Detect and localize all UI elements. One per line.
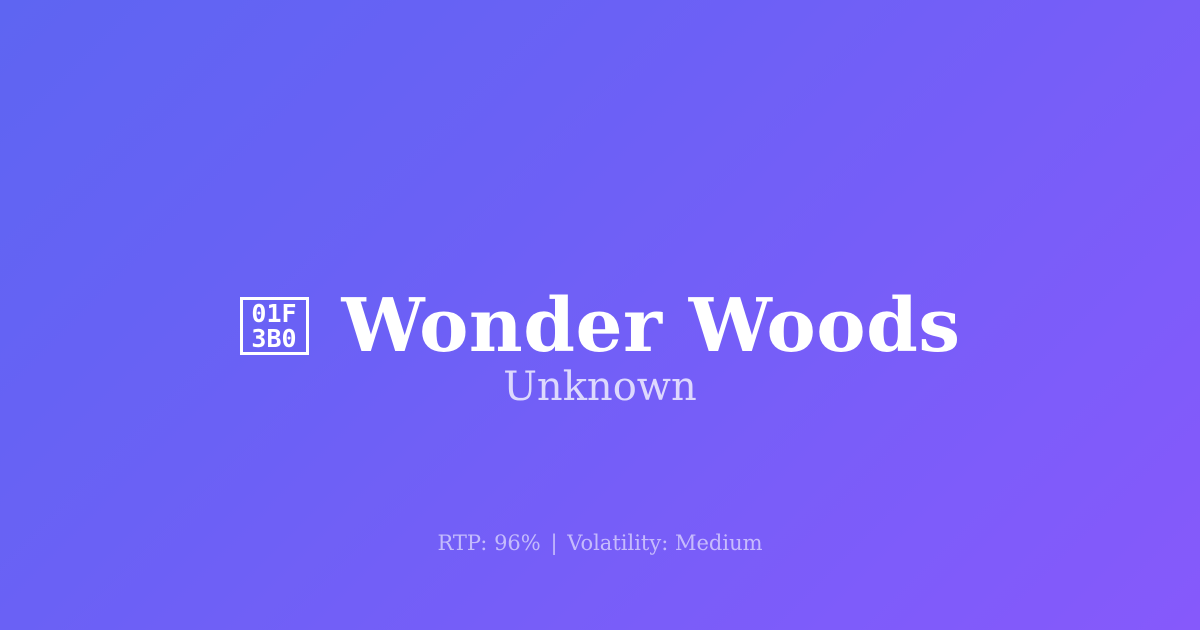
volatility-label: Volatility: bbox=[567, 531, 668, 555]
tofu-codepoint-top: 01F bbox=[251, 301, 296, 326]
volatility-value: Medium bbox=[675, 531, 763, 555]
game-title: Wonder Woods bbox=[342, 286, 961, 366]
game-meta-line: RTP: 96% | Volatility: Medium bbox=[0, 529, 1200, 557]
tofu-codepoint-bottom: 3B0 bbox=[251, 326, 296, 351]
slot-machine-icon: 01F 3B0 bbox=[240, 297, 309, 355]
rtp-label: RTP: bbox=[437, 531, 487, 555]
meta-separator: | bbox=[547, 531, 560, 555]
provider-name: Unknown bbox=[0, 362, 1200, 412]
rtp-value: 96% bbox=[494, 531, 541, 555]
og-share-card: 01F 3B0 Wonder Woods Unknown RTP: 96% | … bbox=[0, 0, 1200, 630]
